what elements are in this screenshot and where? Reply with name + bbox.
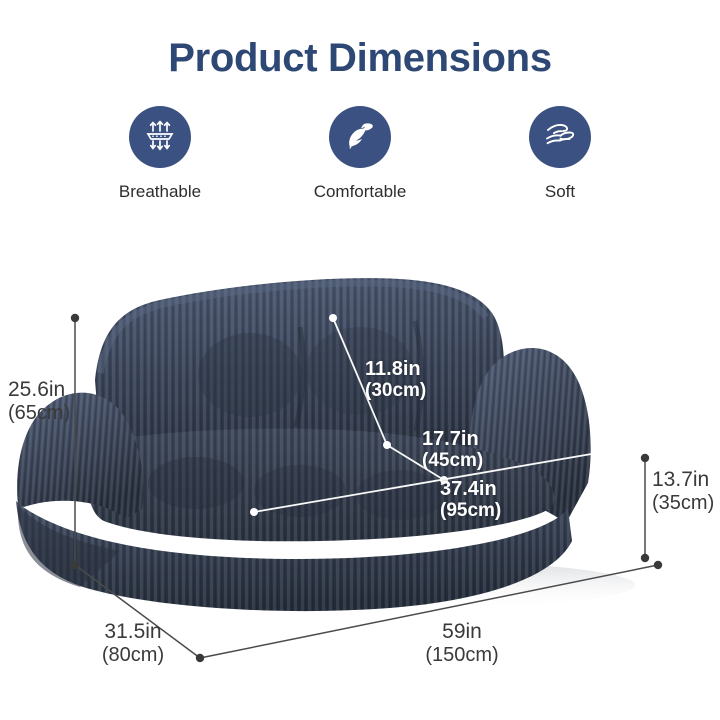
feature-icon-circle (329, 106, 391, 168)
dimension-overall-width: 59in (150cm) (392, 620, 532, 666)
dimension-overall-depth: 31.5in (80cm) (78, 620, 188, 666)
dimension-value-cm: (150cm) (392, 644, 532, 666)
dimension-value-cm: (35cm) (652, 492, 714, 514)
dimension-backrest-height: 11.8in (30cm) (365, 358, 426, 402)
breathable-airflow-icon (140, 115, 180, 160)
dimension-value-in: 13.7in (652, 468, 714, 492)
dimension-seat-height: 13.7in (35cm) (652, 468, 714, 514)
feature-soft: Soft (470, 106, 650, 202)
feature-label: Comfortable (314, 182, 407, 202)
dimension-value-in: 17.7in (422, 428, 483, 450)
feature-icon-circle (529, 106, 591, 168)
dimension-overall-height: 25.6in (65cm) (8, 378, 70, 424)
dimension-seat-width: 37.4in (95cm) (440, 478, 501, 522)
dimension-value-cm: (30cm) (365, 380, 426, 401)
feature-label: Breathable (119, 182, 201, 202)
feature-comfortable: Comfortable (270, 106, 450, 202)
dimension-value-cm: (65cm) (8, 402, 70, 424)
dimension-value-in: 59in (392, 620, 532, 644)
dimension-value-cm: (80cm) (78, 644, 188, 666)
dimension-value-cm: (95cm) (440, 500, 501, 521)
dimension-value-in: 37.4in (440, 478, 501, 500)
dimension-value-in: 25.6in (8, 378, 70, 402)
feature-badge-row: Breathable Comfortable (60, 106, 660, 214)
hand-soft-fabric-icon (539, 114, 581, 161)
dimension-value-in: 31.5in (78, 620, 188, 644)
dimension-seat-depth: 17.7in (45cm) (422, 428, 483, 472)
product-illustration (0, 255, 720, 675)
feather-comfort-icon (340, 115, 380, 160)
dimension-value-cm: (45cm) (422, 450, 483, 471)
dimension-value-in: 11.8in (365, 358, 426, 380)
feature-icon-circle (129, 106, 191, 168)
infographic-canvas: Product Dimensions (0, 0, 720, 720)
page-title: Product Dimensions (0, 36, 720, 81)
feature-label: Soft (545, 182, 575, 202)
feature-breathable: Breathable (70, 106, 250, 202)
